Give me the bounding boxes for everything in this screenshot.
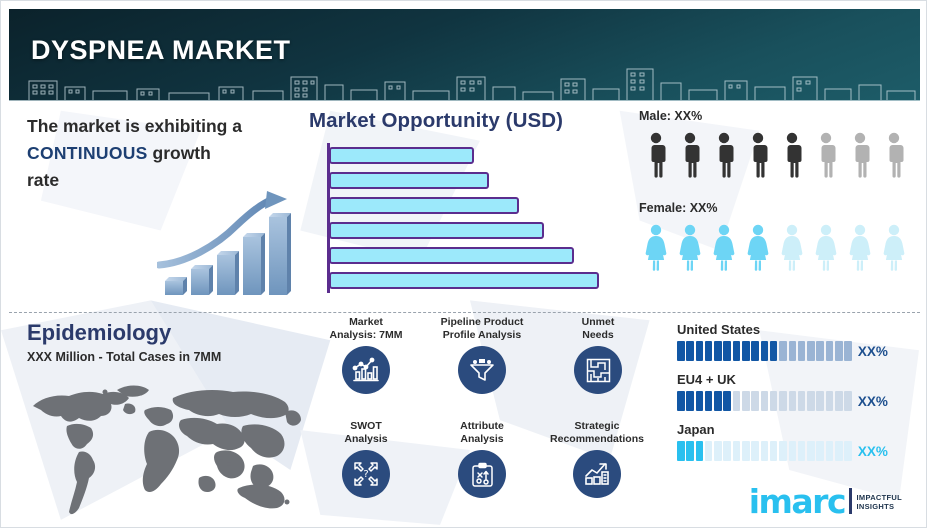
- region-segment: [742, 441, 750, 461]
- region-segment: [835, 441, 843, 461]
- region-bar: XX%: [677, 441, 917, 461]
- region-segment: [723, 391, 731, 411]
- region-segment: [696, 341, 704, 361]
- service-caption: SWOTAnalysis: [307, 420, 425, 446]
- chart-bar: [329, 222, 544, 239]
- demographics-block: Male: XX% Female: XX%: [639, 109, 914, 304]
- region-name: EU4 + UK: [677, 372, 917, 387]
- service-caption: AttributeAnalysis: [423, 420, 541, 446]
- female-figure-icon: [673, 223, 707, 271]
- region-segment: [770, 391, 778, 411]
- growth-statement: The market is exhibiting a CONTINUOUS gr…: [27, 113, 297, 194]
- service-caption: StrategicRecommendations: [535, 420, 659, 446]
- region-segment: [723, 341, 731, 361]
- service-pipeline-product-profile[interactable]: Pipeline ProductProfile Analysis: [423, 316, 541, 394]
- region-segment: [677, 341, 685, 361]
- region-segment: [826, 391, 834, 411]
- region-segment: [779, 391, 787, 411]
- region-segment: [686, 391, 694, 411]
- service-swot-analysis[interactable]: SWOTAnalysis ?: [307, 420, 425, 498]
- region-segment: [779, 341, 787, 361]
- service-caption: MarketAnalysis: 7MM: [307, 316, 425, 342]
- service-caption: Pipeline ProductProfile Analysis: [423, 316, 541, 342]
- region-segment: [807, 341, 815, 361]
- region-row: EU4 + UKXX%: [677, 372, 917, 418]
- region-percent: XX%: [858, 394, 888, 409]
- infographic-page: DYSPNEA MARKET The market is exhibiting …: [0, 0, 927, 528]
- growth-highlight: CONTINUOUS: [27, 143, 148, 163]
- region-segment: [677, 441, 685, 461]
- epidemiology-title: Epidemiology: [27, 320, 171, 346]
- chart-bar: [329, 197, 519, 214]
- region-segment: [816, 391, 824, 411]
- male-label: Male: XX%: [639, 109, 914, 123]
- female-figure-icon: [809, 223, 843, 271]
- region-segment: [789, 441, 797, 461]
- region-segments: [677, 391, 852, 411]
- region-segment: [761, 391, 769, 411]
- region-segment: [742, 391, 750, 411]
- region-row: United StatesXX%: [677, 322, 917, 368]
- region-segment: [770, 441, 778, 461]
- service-attribute-analysis[interactable]: AttributeAnalysis: [423, 420, 541, 498]
- region-name: Japan: [677, 422, 917, 437]
- services-icon-grid: MarketAnalysis: 7MM Pipeline ProductProf: [307, 316, 657, 520]
- region-segment: [696, 441, 704, 461]
- male-figure-icon: [775, 131, 809, 179]
- region-share-list: United StatesXX%EU4 + UKXX%JapanXX%: [677, 322, 917, 472]
- male-figure-icon: [877, 131, 911, 179]
- clipboard-strategy-icon: [458, 450, 506, 498]
- region-segment: [714, 341, 722, 361]
- chart-bar: [329, 147, 474, 164]
- header-banner: DYSPNEA MARKET: [9, 9, 920, 101]
- region-segment: [779, 441, 787, 461]
- bottom-section: Epidemiology XXX Million - Total Cases i…: [9, 314, 920, 520]
- region-segment: [733, 391, 741, 411]
- region-bar: XX%: [677, 341, 917, 361]
- region-percent: XX%: [858, 444, 888, 459]
- logo-divider: [849, 488, 852, 514]
- service-strategic-recommendations[interactable]: StrategicRecommendations: [535, 420, 659, 498]
- top-content-row: The market is exhibiting a CONTINUOUS gr…: [9, 101, 920, 306]
- female-figure-icon: [639, 223, 673, 271]
- growth-chart-arrow-icon: [573, 450, 621, 498]
- region-segment: [733, 341, 741, 361]
- region-segment: [705, 341, 713, 361]
- male-figure-icon: [707, 131, 741, 179]
- region-segment: [816, 441, 824, 461]
- region-segment: [789, 391, 797, 411]
- region-segment: [723, 441, 731, 461]
- region-segment: [789, 341, 797, 361]
- region-segment: [751, 341, 759, 361]
- chart-bar: [329, 272, 599, 289]
- market-opportunity-chart: [317, 141, 617, 296]
- female-label: Female: XX%: [639, 201, 914, 215]
- service-unmet-needs[interactable]: UnmetNeeds: [539, 316, 657, 394]
- male-figure-icon: [741, 131, 775, 179]
- region-segment: [816, 341, 824, 361]
- region-segment: [770, 341, 778, 361]
- chart-bar: [329, 247, 574, 264]
- region-segment: [751, 441, 759, 461]
- region-segment: [742, 341, 750, 361]
- chart-bar: [329, 172, 489, 189]
- growth-line2: growth: [148, 143, 211, 163]
- region-segment: [798, 341, 806, 361]
- female-figure-icon: [775, 223, 809, 271]
- male-figure-icon: [639, 131, 673, 179]
- region-segment: [826, 341, 834, 361]
- region-segment: [714, 441, 722, 461]
- world-map-icon: [21, 370, 303, 518]
- growth-line3: rate: [27, 170, 59, 190]
- logo-tagline: IMPACTFULINSIGHTS: [857, 493, 902, 513]
- region-segment: [798, 391, 806, 411]
- section-divider: [9, 312, 920, 313]
- page-title: DYSPNEA MARKET: [31, 35, 291, 66]
- region-segments: [677, 341, 852, 361]
- region-segment: [798, 441, 806, 461]
- bar-chart-analysis-icon: [342, 346, 390, 394]
- epidemiology-subtitle: XXX Million - Total Cases in 7MM: [27, 350, 221, 364]
- region-percent: XX%: [858, 344, 888, 359]
- region-segment: [761, 341, 769, 361]
- region-segment: [761, 441, 769, 461]
- market-opportunity-title: Market Opportunity (USD): [309, 109, 629, 133]
- region-segment: [835, 341, 843, 361]
- region-segment: [677, 391, 685, 411]
- region-segment: [705, 391, 713, 411]
- region-segment: [733, 441, 741, 461]
- male-figure-row: [639, 131, 914, 179]
- region-segment: [844, 391, 852, 411]
- service-caption: UnmetNeeds: [539, 316, 657, 342]
- female-figure-icon: [877, 223, 911, 271]
- region-segment: [826, 441, 834, 461]
- service-market-analysis[interactable]: MarketAnalysis: 7MM: [307, 316, 425, 394]
- region-segment: [714, 391, 722, 411]
- growth-bar-arrow-icon: [157, 189, 307, 299]
- swot-arrows-icon: ?: [342, 450, 390, 498]
- svg-text:?: ?: [363, 469, 368, 480]
- region-segment: [705, 441, 713, 461]
- region-segments: [677, 441, 852, 461]
- region-bar: XX%: [677, 391, 917, 411]
- male-figure-icon: [673, 131, 707, 179]
- region-segment: [696, 391, 704, 411]
- female-figure-icon: [843, 223, 877, 271]
- female-figure-icon: [741, 223, 775, 271]
- imarc-logo: imarc IMPACTFULINSIGHTS: [749, 488, 902, 516]
- region-segment: [807, 391, 815, 411]
- region-segment: [835, 391, 843, 411]
- region-segment: [807, 441, 815, 461]
- region-name: United States: [677, 322, 917, 337]
- funnel-icon: [458, 346, 506, 394]
- region-segment: [686, 441, 694, 461]
- maze-icon: [574, 346, 622, 394]
- chart-axis: [327, 143, 330, 293]
- market-opportunity-block: Market Opportunity (USD): [309, 109, 629, 304]
- female-figure-icon: [707, 223, 741, 271]
- female-figure-row: [639, 223, 914, 271]
- logo-wordmark: imarc: [749, 488, 845, 516]
- region-segment: [751, 391, 759, 411]
- growth-line1: The market is exhibiting a: [27, 116, 242, 136]
- male-figure-icon: [809, 131, 843, 179]
- region-segment: [844, 441, 852, 461]
- male-figure-icon: [843, 131, 877, 179]
- region-segment: [844, 341, 852, 361]
- region-segment: [686, 341, 694, 361]
- region-row: JapanXX%: [677, 422, 917, 468]
